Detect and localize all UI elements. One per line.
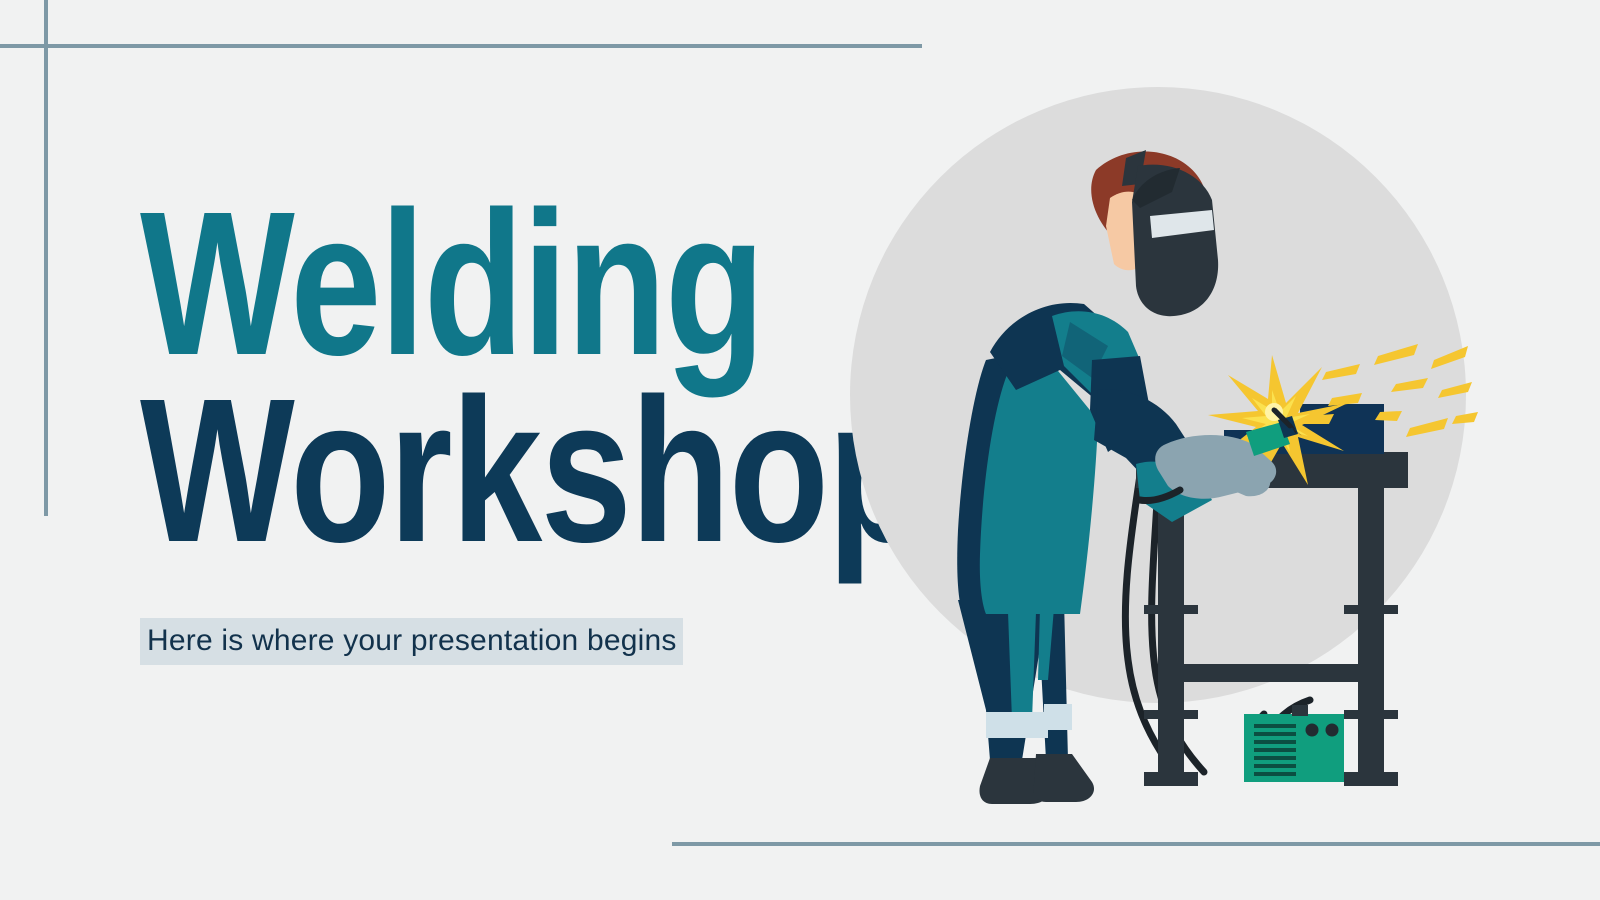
bench-cross-brace [1170, 664, 1372, 682]
welder-boots [980, 754, 1095, 804]
machine-socket [1292, 705, 1308, 716]
subtitle-container: Here is where your presentation begins [140, 618, 840, 666]
trouser-highlight [1008, 612, 1036, 720]
slide-title-line-one: Welding [140, 186, 700, 383]
bench-leg-right [1358, 488, 1384, 782]
decorative-top-horizontal-rule [0, 44, 922, 48]
bench-foot-left [1144, 772, 1198, 786]
decorative-vertical-rule [44, 0, 48, 516]
presentation-slide: Welding Workshop Here is where your pres… [0, 0, 1600, 900]
title-text-block: Welding Workshop Here is where your pres… [140, 186, 840, 665]
welding-machine [1244, 705, 1344, 782]
machine-knob-left [1306, 724, 1319, 737]
bench-foot-right [1344, 772, 1398, 786]
welder-illustration [840, 60, 1560, 850]
slide-title-line-two: Workshop [140, 373, 700, 570]
slide-subtitle: Here is where your presentation begins [140, 618, 683, 666]
machine-knob-right [1326, 724, 1339, 737]
bench-leg-left [1158, 488, 1184, 782]
